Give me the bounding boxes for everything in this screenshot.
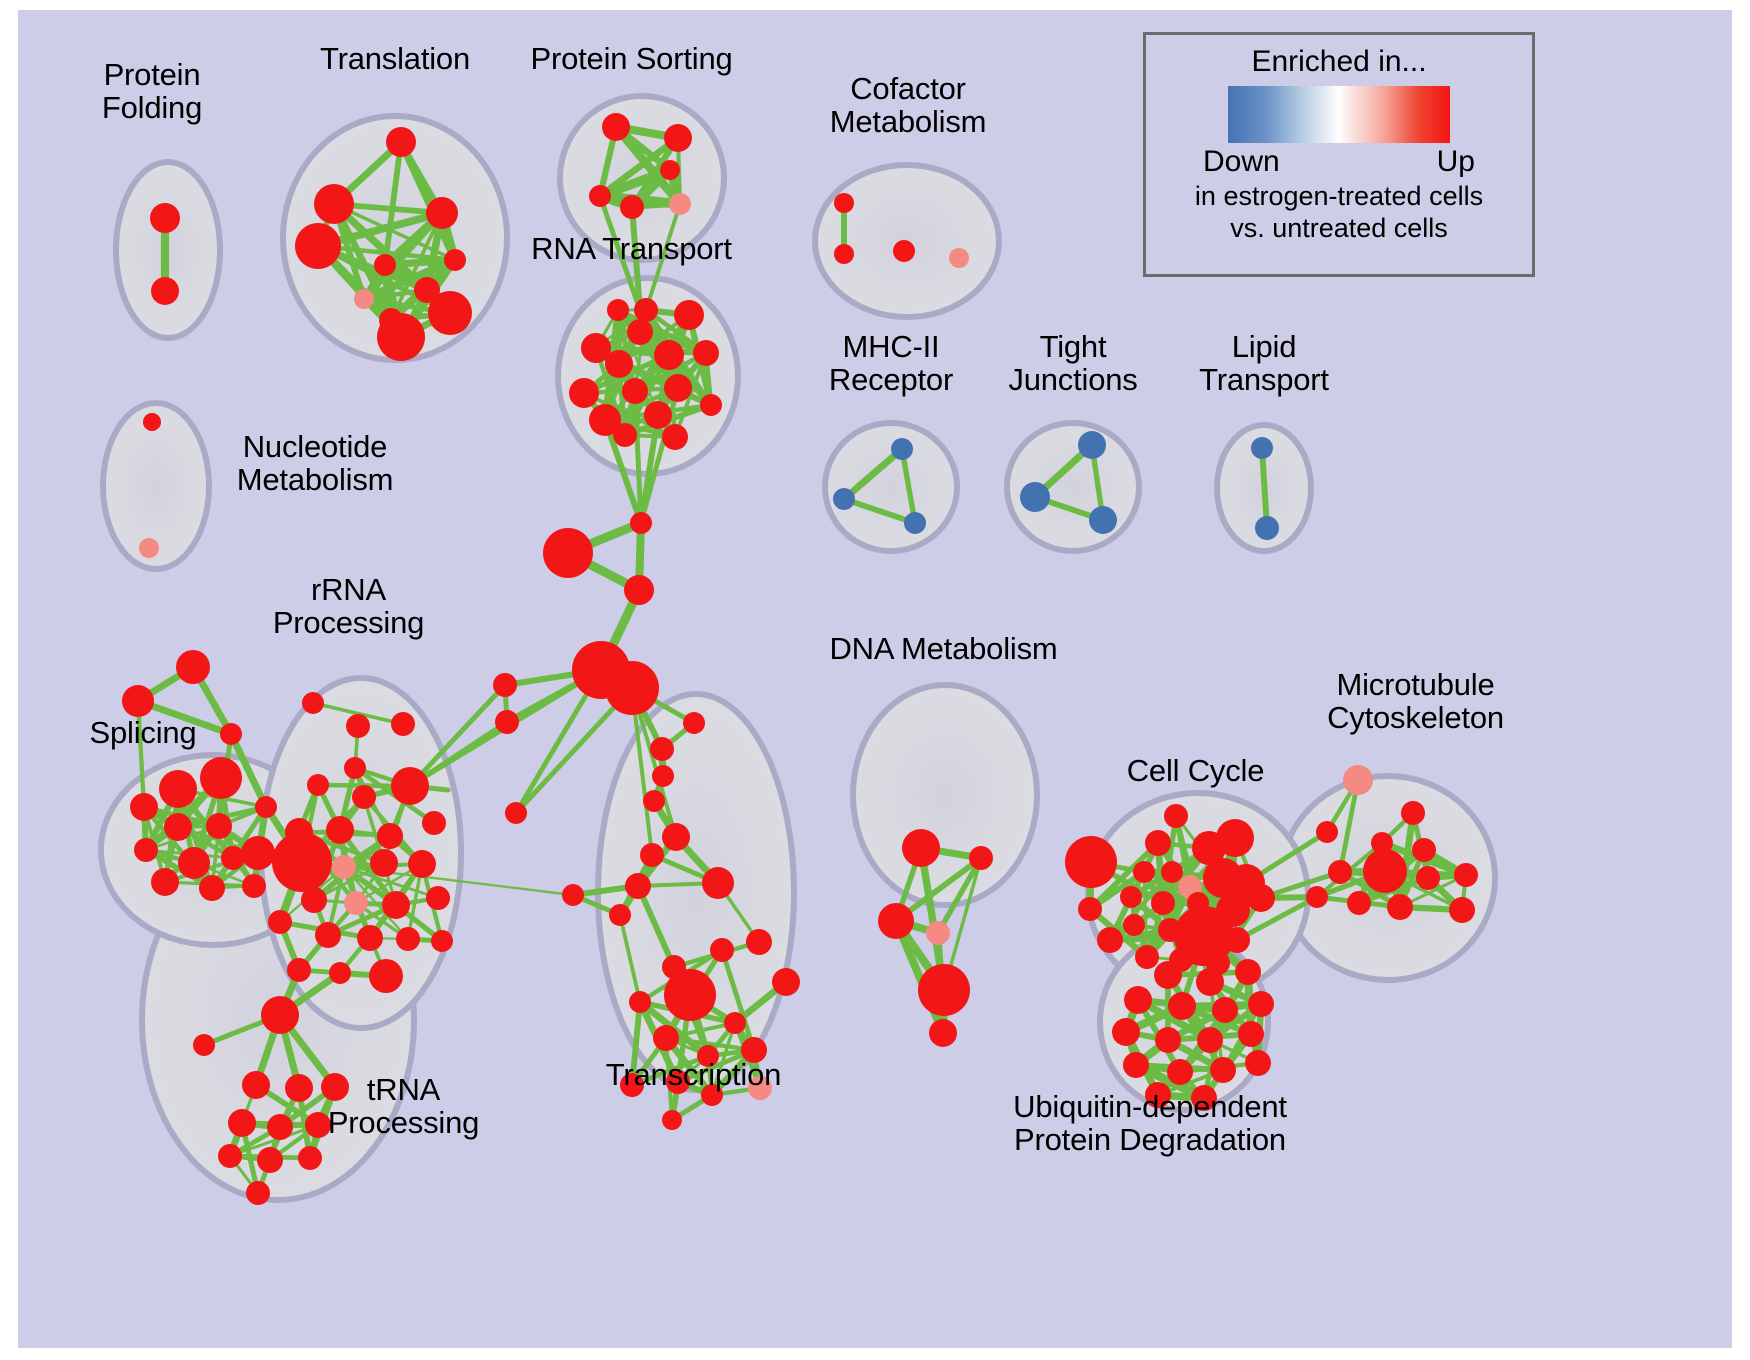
network-node [164, 813, 192, 841]
network-node [150, 203, 180, 233]
network-node [1065, 836, 1117, 888]
cluster-hull [853, 685, 1037, 905]
cluster-hull [825, 423, 957, 551]
network-node [569, 378, 599, 408]
network-node [143, 413, 161, 431]
network-node [346, 714, 370, 738]
network-node [242, 874, 266, 898]
network-node [1145, 1082, 1171, 1108]
network-node [904, 512, 926, 534]
network-node [1449, 897, 1475, 923]
network-node [242, 1071, 270, 1099]
network-canvas: Protein Folding Translation Protein Sort… [18, 10, 1732, 1348]
network-node [1145, 830, 1171, 856]
network-node [834, 193, 854, 213]
network-node [1212, 997, 1238, 1023]
network-node [1235, 959, 1261, 985]
network-node [634, 298, 658, 322]
network-node [1416, 866, 1440, 890]
network-node [660, 160, 680, 180]
network-node [543, 528, 593, 578]
network-node [268, 910, 292, 934]
network-node [246, 1181, 270, 1205]
network-node [159, 770, 197, 808]
network-node [218, 1144, 242, 1168]
network-node [200, 757, 242, 799]
network-node [422, 811, 446, 835]
network-node [329, 962, 351, 984]
network-node [444, 249, 466, 271]
network-node [1120, 886, 1142, 908]
network-node [295, 223, 341, 269]
network-node [702, 867, 734, 899]
network-node [1210, 1057, 1236, 1083]
network-node [1247, 884, 1275, 912]
network-node [1123, 914, 1145, 936]
network-node [650, 737, 674, 761]
network-node [949, 248, 969, 268]
network-node [377, 313, 425, 361]
network-node [605, 350, 633, 378]
network-node [382, 891, 410, 919]
network-node [1078, 431, 1106, 459]
network-node [426, 886, 450, 910]
network-node [902, 829, 940, 867]
network-node [1167, 1059, 1193, 1085]
network-node [697, 1045, 719, 1067]
network-node [1020, 482, 1050, 512]
network-node [272, 832, 332, 892]
network-node [622, 378, 648, 404]
network-node [625, 873, 651, 899]
network-node [669, 193, 691, 215]
network-node [662, 424, 688, 450]
network-node [929, 1019, 957, 1047]
network-node [1316, 821, 1338, 843]
network-node [1387, 894, 1413, 920]
network-node [1133, 861, 1155, 883]
network-node [834, 244, 854, 264]
network-node [130, 793, 158, 821]
network-node [301, 887, 327, 913]
network-node [261, 996, 299, 1034]
network-node [893, 240, 915, 262]
network-node [391, 767, 429, 805]
network-node [326, 816, 354, 844]
network-node [833, 488, 855, 510]
network-node [298, 1146, 322, 1170]
network-node [1238, 1021, 1264, 1047]
network-node [1089, 506, 1117, 534]
network-node [315, 922, 341, 948]
network-node [178, 847, 210, 879]
network-node [1155, 1027, 1181, 1053]
network-node [344, 891, 368, 915]
network-node [377, 823, 403, 849]
network-node [562, 884, 584, 906]
network-node [352, 785, 376, 809]
network-node [1124, 986, 1152, 1014]
network-node [664, 124, 692, 152]
network-node [1255, 516, 1279, 540]
network-node [602, 113, 630, 141]
network-node [613, 423, 637, 447]
network-node [662, 823, 690, 851]
legend-title: Enriched in... [1251, 45, 1426, 79]
network-node [1168, 992, 1196, 1020]
legend-subtitle-line2: vs. untreated cells [1230, 213, 1448, 243]
legend-box: Enriched in... Down Up in estrogen-treat… [1143, 32, 1535, 277]
network-node [134, 838, 158, 862]
network-node [878, 903, 914, 939]
network-node [386, 127, 416, 157]
network-node [969, 846, 993, 870]
network-node [1174, 906, 1234, 966]
legend-endpoints: Down Up [1203, 145, 1475, 179]
network-node [1135, 945, 1159, 969]
network-node [746, 929, 772, 955]
network-node [408, 850, 436, 878]
network-node [926, 921, 950, 945]
network-node [772, 968, 800, 996]
network-node [1328, 860, 1352, 884]
network-node [151, 868, 179, 896]
network-node [193, 1034, 215, 1056]
network-node [302, 692, 324, 714]
network-node [307, 774, 329, 796]
network-node [176, 650, 210, 684]
network-node [493, 673, 517, 697]
network-node [1251, 437, 1273, 459]
network-node [918, 964, 970, 1016]
network-node [700, 394, 722, 416]
network-node [1343, 765, 1373, 795]
network-node [220, 723, 242, 745]
legend-subtitle-line1: in estrogen-treated cells [1195, 181, 1483, 211]
figure-stage: Protein Folding Translation Protein Sort… [0, 0, 1750, 1360]
legend-up-label: Up [1437, 145, 1475, 179]
network-node [357, 925, 383, 951]
network-node [1248, 991, 1274, 1017]
network-node [748, 1076, 772, 1100]
network-node [1306, 886, 1328, 908]
legend-down-label: Down [1203, 145, 1280, 179]
network-node [431, 930, 453, 952]
network-node [495, 710, 519, 734]
network-node [652, 765, 674, 787]
network-node [662, 1110, 682, 1130]
network-node [607, 299, 629, 321]
network-node [139, 538, 159, 558]
network-node [428, 291, 472, 335]
network-node [1123, 1052, 1149, 1078]
network-node [1197, 1027, 1223, 1053]
network-node [624, 575, 654, 605]
network-node [332, 855, 356, 879]
network-node [891, 438, 913, 460]
network-node [643, 790, 665, 812]
network-node [228, 1109, 256, 1137]
network-node [1164, 804, 1188, 828]
network-node [1097, 927, 1123, 953]
network-node [1191, 1085, 1217, 1111]
network-node [321, 1073, 349, 1101]
network-node [1363, 849, 1407, 893]
network-node [1154, 961, 1182, 989]
network-node [267, 1114, 293, 1140]
network-node [1454, 863, 1478, 887]
network-node [1078, 897, 1102, 921]
network-node [630, 512, 652, 534]
network-node [741, 1037, 767, 1063]
network-node [674, 300, 704, 330]
network-node [396, 927, 420, 951]
network-node [589, 185, 611, 207]
network-node [1401, 801, 1425, 825]
network-node [1151, 891, 1175, 915]
network-node [653, 1025, 679, 1051]
network-node [1112, 1018, 1140, 1046]
network-node [151, 277, 179, 305]
network-node [654, 340, 684, 370]
network-node [664, 969, 716, 1021]
network-node [1216, 819, 1254, 857]
network-node [241, 836, 275, 870]
network-node [1161, 861, 1183, 883]
network-node [710, 938, 734, 962]
network-node [620, 195, 644, 219]
network-node [391, 712, 415, 736]
network-node [1196, 968, 1224, 996]
network-node [683, 712, 705, 734]
network-node [640, 843, 664, 867]
network-node [206, 813, 232, 839]
network-node [666, 1070, 690, 1094]
network-node [374, 254, 396, 276]
network-node [664, 374, 692, 402]
network-node [426, 197, 458, 229]
network-node [1245, 1050, 1271, 1076]
network-node [305, 1112, 331, 1138]
network-node [354, 289, 374, 309]
network-node [255, 796, 277, 818]
network-node [370, 849, 398, 877]
network-node [369, 959, 403, 993]
network-node [701, 1084, 723, 1106]
network-node [609, 904, 631, 926]
network-node [605, 661, 659, 715]
network-node [314, 184, 354, 224]
network-node [257, 1147, 283, 1173]
network-node [199, 875, 225, 901]
network-node [620, 1073, 644, 1097]
network-node [344, 757, 366, 779]
network-node [505, 802, 527, 824]
network-node [1347, 891, 1371, 915]
network-node [693, 340, 719, 366]
network-node [627, 319, 653, 345]
network-node [724, 1012, 746, 1034]
network-node [1412, 838, 1436, 862]
network-node [644, 401, 672, 429]
network-node [285, 1074, 313, 1102]
network-node [629, 991, 651, 1013]
network-node [287, 958, 311, 982]
legend-colorbar [1228, 86, 1450, 143]
network-node [122, 685, 154, 717]
